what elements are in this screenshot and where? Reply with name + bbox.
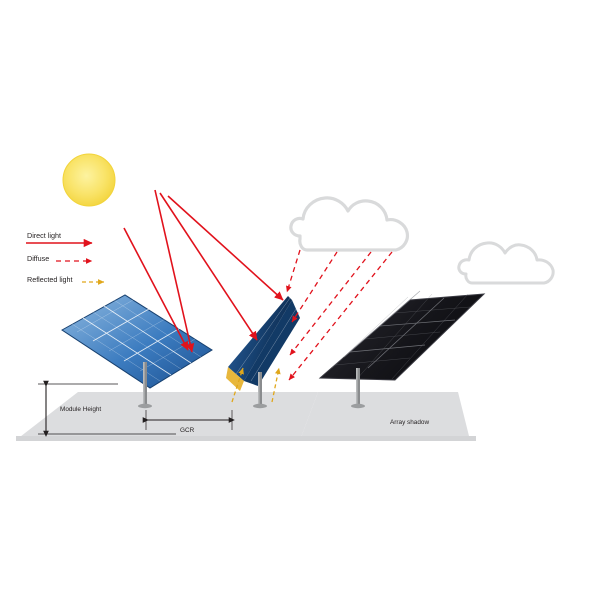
legend-item-direct-light: Direct light <box>26 231 92 243</box>
array-shadow-label: Array shadow <box>390 419 429 426</box>
legend-label-direct-light: Direct light <box>27 231 61 240</box>
panel-array-left <box>62 295 212 408</box>
gcr-label: GCR <box>180 427 195 434</box>
legend-label-reflected-light: Reflected light <box>27 275 73 284</box>
cloud-icon <box>291 198 408 250</box>
module-height-label: Module Height <box>60 406 101 413</box>
legend-label-diffuse: Diffuse <box>27 254 49 263</box>
sun-icon <box>63 154 115 206</box>
legend-item-diffuse: Diffuse <box>27 254 92 263</box>
cloud-icon <box>459 243 553 283</box>
diagram-canvas: Direct light Diffuse Reflected light Mod… <box>0 0 600 600</box>
legend: Direct light Diffuse Reflected light <box>26 231 104 284</box>
solar-array-diagram: Direct light Diffuse Reflected light Mod… <box>0 0 600 600</box>
legend-item-reflected-light: Reflected light <box>27 275 104 284</box>
panel-array-center <box>226 296 300 408</box>
annotation-array-shadow: Array shadow <box>390 419 429 426</box>
panel-array-right <box>320 291 484 408</box>
